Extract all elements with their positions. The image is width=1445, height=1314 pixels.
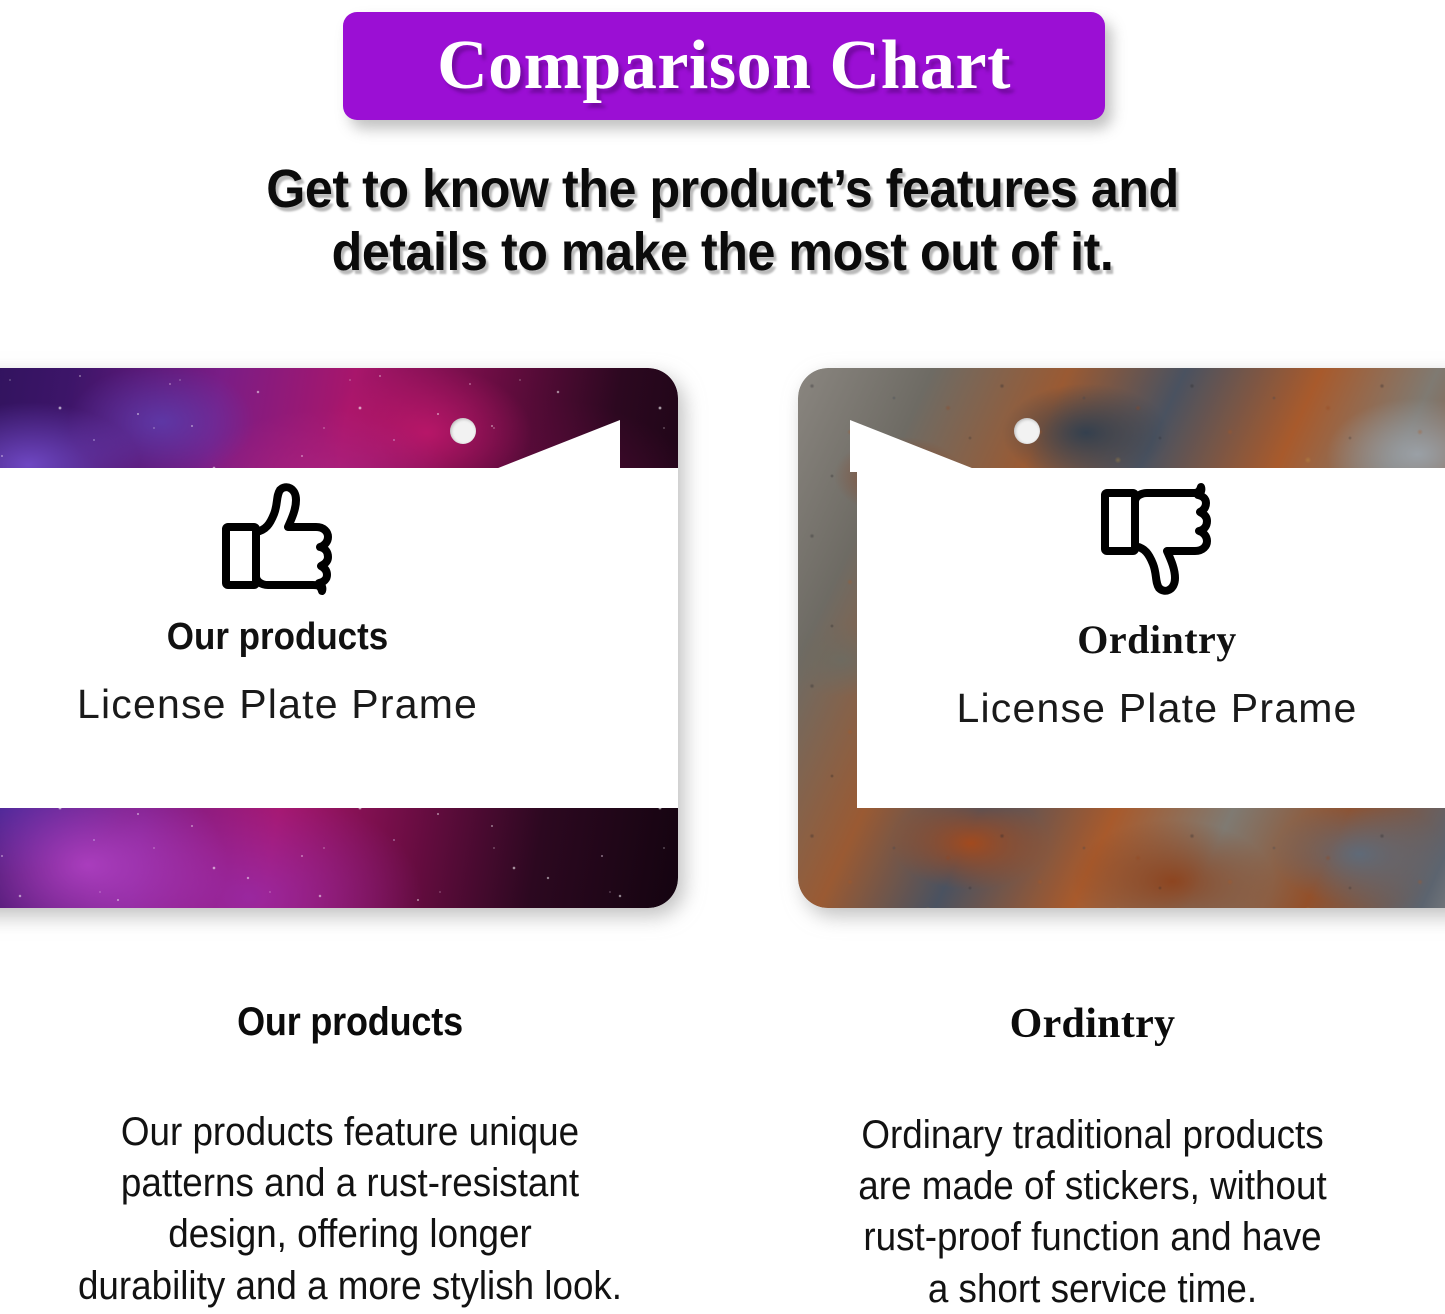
title-banner-wrapper: Comparison Chart: [343, 12, 1105, 120]
page-title: Comparison Chart: [437, 31, 1011, 101]
our-products-description-column: Our products Our products feature unique…: [0, 1000, 700, 1312]
left-plate-subheading: License Plate Prame: [0, 681, 615, 728]
comparison-chart-banner: Comparison Chart: [343, 12, 1105, 120]
left-column-heading: Our products: [35, 1000, 665, 1045]
right-plate-heading: Ordintry: [857, 616, 1445, 663]
thumbs-up-icon: [218, 480, 338, 598]
right-column-heading: Ordintry: [740, 1000, 1445, 1048]
mounting-hole-icon: [450, 418, 476, 444]
right-plate-caption: Ordintry License Plate Prame: [857, 480, 1445, 732]
left-column-body: Our products feature unique patterns and…: [28, 1107, 672, 1312]
left-plate-caption: Our products License Plate Prame: [0, 480, 615, 728]
mounting-hole-icon: [1014, 418, 1040, 444]
page-subtitle: Get to know the product’s features and d…: [51, 158, 1395, 283]
right-plate-subheading: License Plate Prame: [857, 685, 1445, 732]
ordinary-description-column: Ordintry Ordinary traditional products a…: [740, 1000, 1445, 1314]
left-plate-heading: Our products: [0, 616, 588, 659]
right-column-body: Ordinary traditional products are made o…: [768, 1110, 1417, 1314]
thumbs-down-icon: [1097, 480, 1217, 598]
